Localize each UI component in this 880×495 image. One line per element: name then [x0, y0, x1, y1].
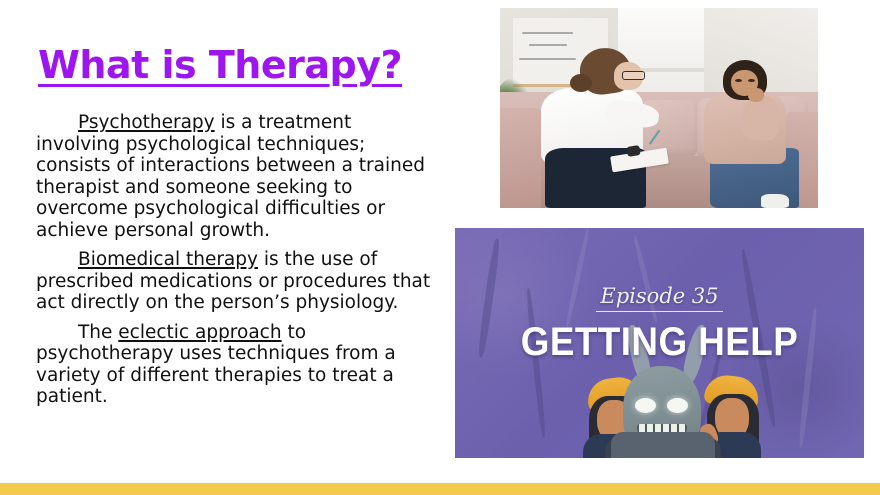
- photo-client-hand: [748, 88, 764, 102]
- paragraph-eclectic: The eclectic approach to psychotherapy u…: [36, 322, 436, 408]
- photo-wristwatch: [626, 145, 640, 157]
- paragraph-eclectic-lead: The: [78, 322, 118, 343]
- monster-seat: [611, 432, 715, 458]
- paragraph-psychotherapy: Psychotherapy is a treatment involving p…: [36, 112, 436, 241]
- paragraph-biomedical: Biomedical therapy is the use of prescri…: [36, 249, 436, 314]
- photo-whiteboard-scribble: [529, 44, 567, 46]
- photo-whiteboard-scribble: [519, 58, 576, 60]
- photo-couch-arm-left: [500, 108, 541, 208]
- body-text: Psychotherapy is a treatment involving p…: [36, 112, 436, 408]
- page-title: What is Therapy?: [38, 43, 402, 87]
- slide-canvas: What is Therapy? Psychotherapy is a trea…: [0, 0, 880, 495]
- photo-client-shoe: [761, 194, 790, 208]
- term-eclectic-approach: eclectic approach: [118, 322, 281, 343]
- term-biomedical-therapy: Biomedical therapy: [78, 249, 258, 270]
- photo-therapist-glasses: [622, 71, 645, 80]
- thumbnail-headline: GETTING HELP: [471, 320, 847, 365]
- episode-label: Episode 35: [455, 284, 864, 308]
- bottom-accent-bar: [0, 483, 880, 495]
- video-thumbnail: Episode 35 GETTING HELP: [455, 228, 864, 458]
- term-psychotherapy: Psychotherapy: [78, 112, 215, 133]
- monster-eye-left: [635, 398, 656, 413]
- therapy-session-photo: [500, 8, 818, 208]
- monster-eye-right: [667, 398, 688, 413]
- photo-whiteboard-scribble: [522, 32, 573, 34]
- photo-therapist-hair-bun: [570, 74, 592, 92]
